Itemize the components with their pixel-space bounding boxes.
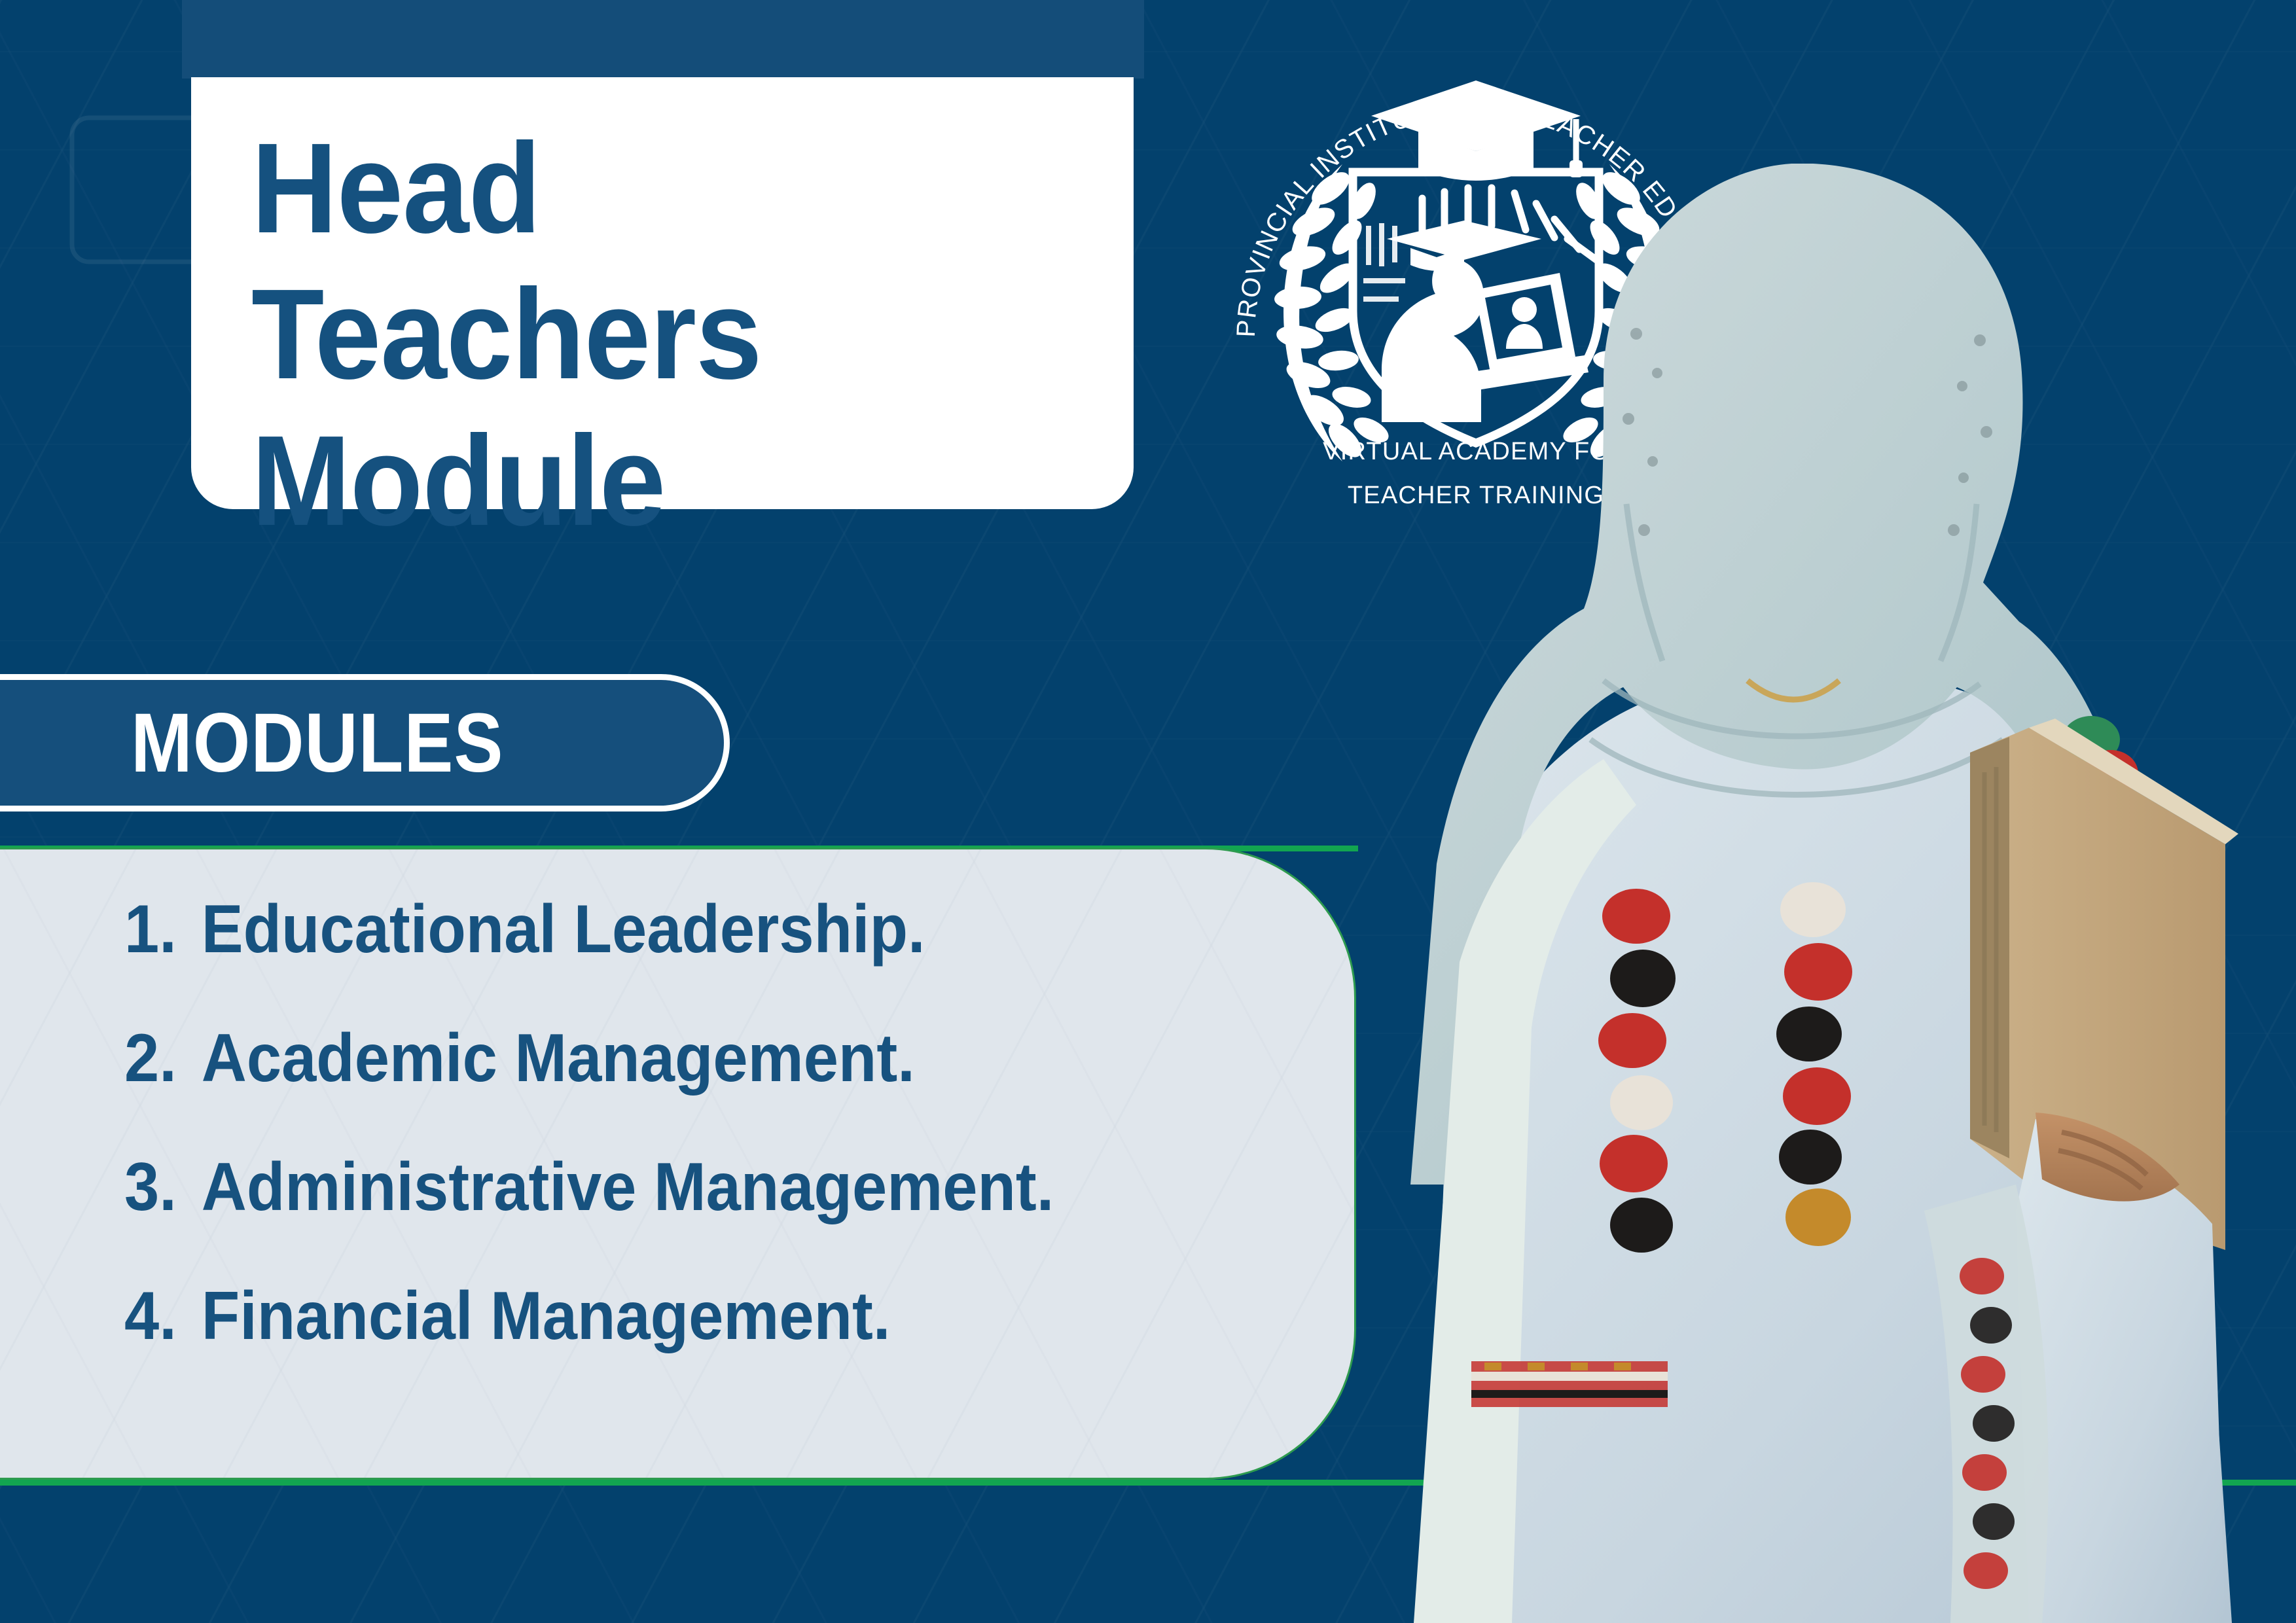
list-item[interactable]: 3. Administrative Management. xyxy=(124,1153,1054,1221)
list-item-label: Academic Management. xyxy=(202,1024,915,1092)
list-item-number: 2. xyxy=(124,1024,202,1092)
sleeve-cuff-embroidery xyxy=(1471,1361,1668,1407)
list-item-label: Administrative Management. xyxy=(202,1153,1054,1221)
teacher-photo xyxy=(1296,164,2296,1623)
list-item[interactable]: 1. Educational Leadership. xyxy=(124,895,1054,963)
list-item-number: 3. xyxy=(124,1153,202,1221)
page-title: Head Teachers Module xyxy=(251,115,1043,554)
list-item-label: Financial Management. xyxy=(202,1282,891,1350)
list-item[interactable]: 4. Financial Management. xyxy=(124,1282,1054,1350)
teacher-photo-svg xyxy=(1296,164,2296,1623)
list-item-number: 4. xyxy=(124,1282,202,1350)
modules-badge: MODULES xyxy=(0,674,730,811)
slide-canvas: Head Teachers Module PROVINCIAL INSTITUT… xyxy=(0,0,2296,1623)
list-item[interactable]: 2. Academic Management. xyxy=(124,1024,1054,1092)
list-item-number: 1. xyxy=(124,895,202,963)
title-card-top-band xyxy=(182,0,1144,79)
list-item-label: Educational Leadership. xyxy=(202,895,925,963)
modules-content-panel: 1. Educational Leadership. 2. Academic M… xyxy=(0,847,1356,1480)
modules-badge-label: MODULES xyxy=(131,695,503,791)
module-list: 1. Educational Leadership. 2. Academic M… xyxy=(124,895,1135,1411)
title-card: Head Teachers Module xyxy=(191,77,1134,509)
